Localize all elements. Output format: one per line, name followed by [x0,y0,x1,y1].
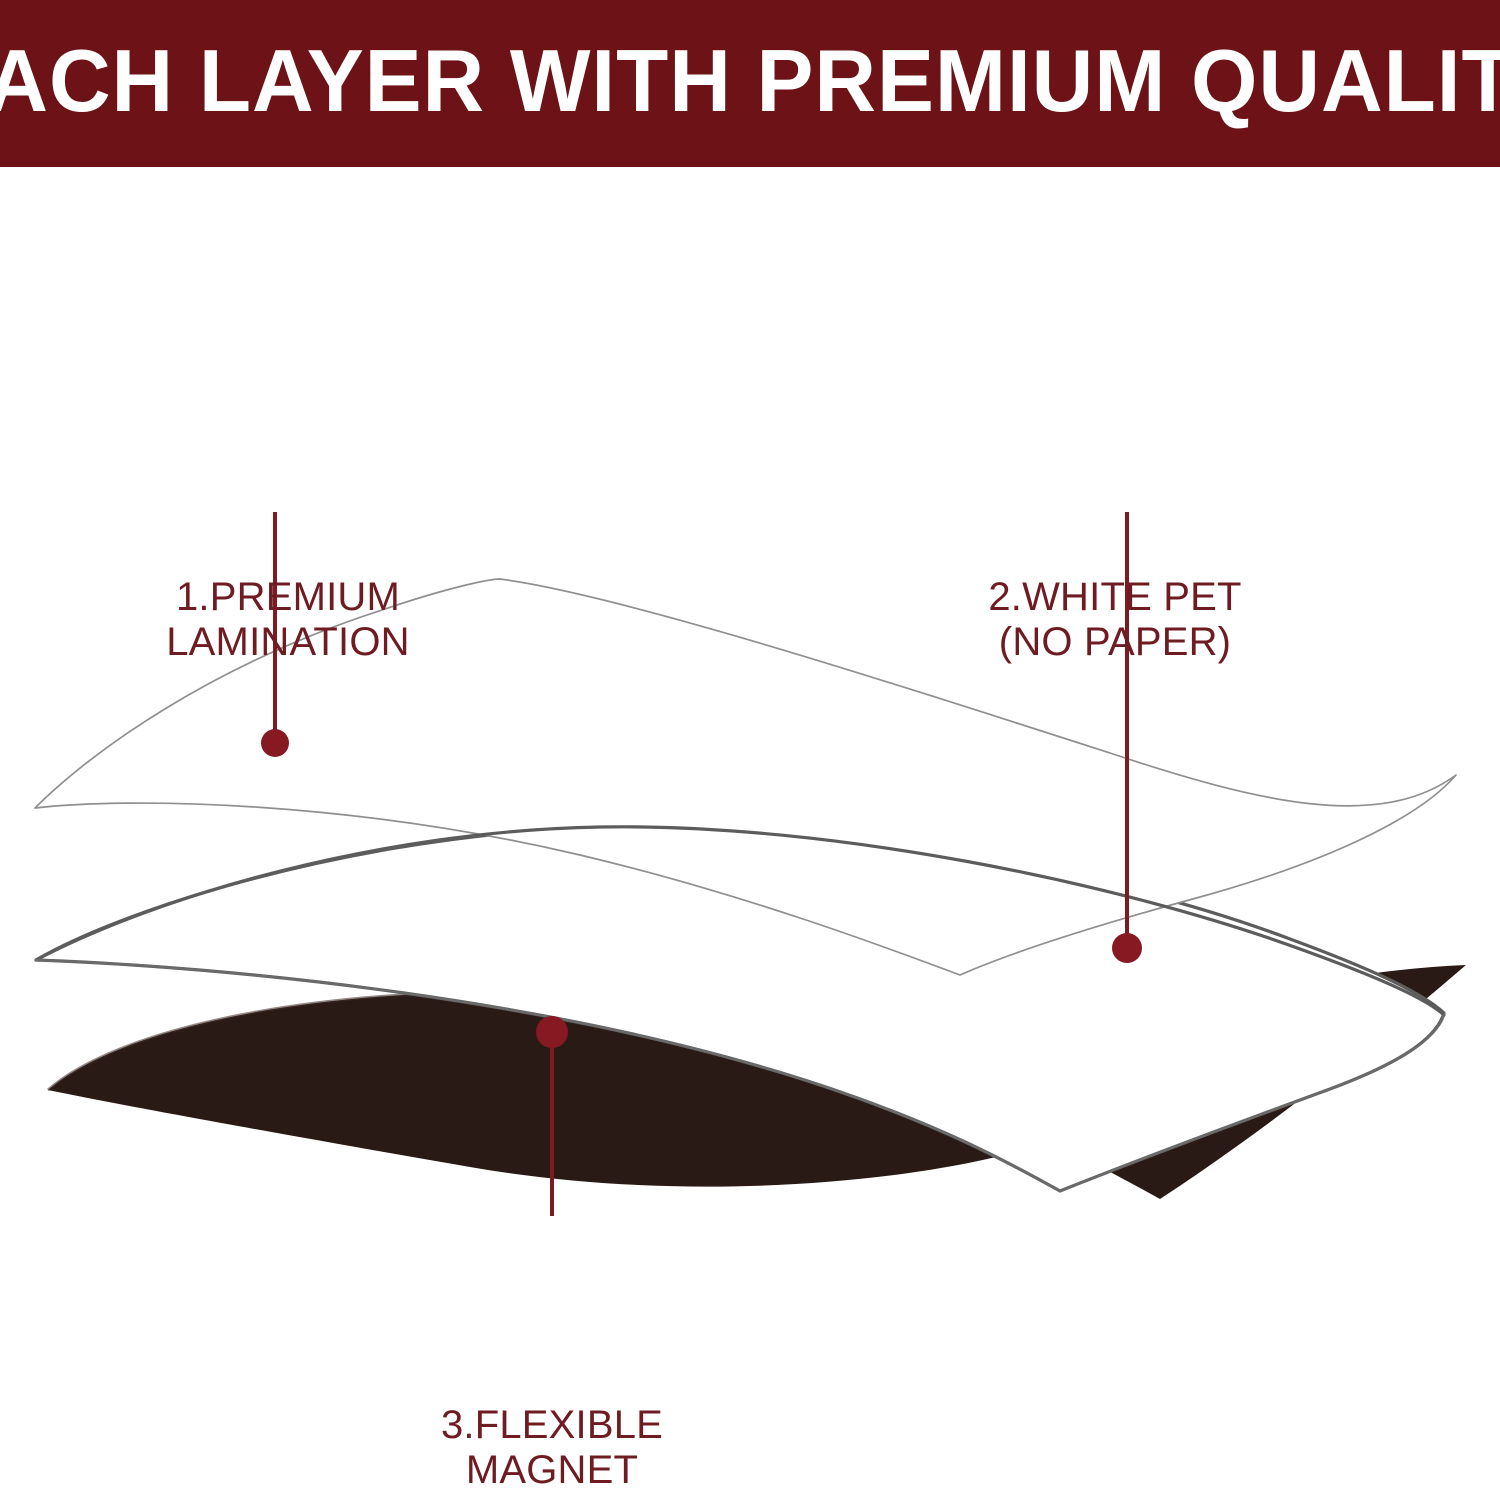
callout-label-flexible-magnet: 3.FLEXIBLE MAGNET [392,1403,712,1493]
header-banner: EACH LAYER WITH PREMIUM QUALITY [0,0,1500,167]
page-title: EACH LAYER WITH PREMIUM QUALITY [0,37,1500,131]
callout-label-premium-lamination: 1.PREMIUM LAMINATION [108,575,468,665]
product-layer-infographic: EACH LAYER WITH PREMIUM QUALITY [0,0,1500,1500]
diagram-stage: 1.PREMIUM LAMINATION 2.WHITE PET (NO PAP… [0,167,1500,1500]
layer-stack-illustration [0,167,1500,1500]
callout-label-white-pet: 2.WHITE PET (NO PAPER) [928,575,1302,665]
callout-dot-3 [536,1016,568,1048]
callout-dot-1 [261,729,289,757]
callout-dot-2 [1112,933,1142,963]
